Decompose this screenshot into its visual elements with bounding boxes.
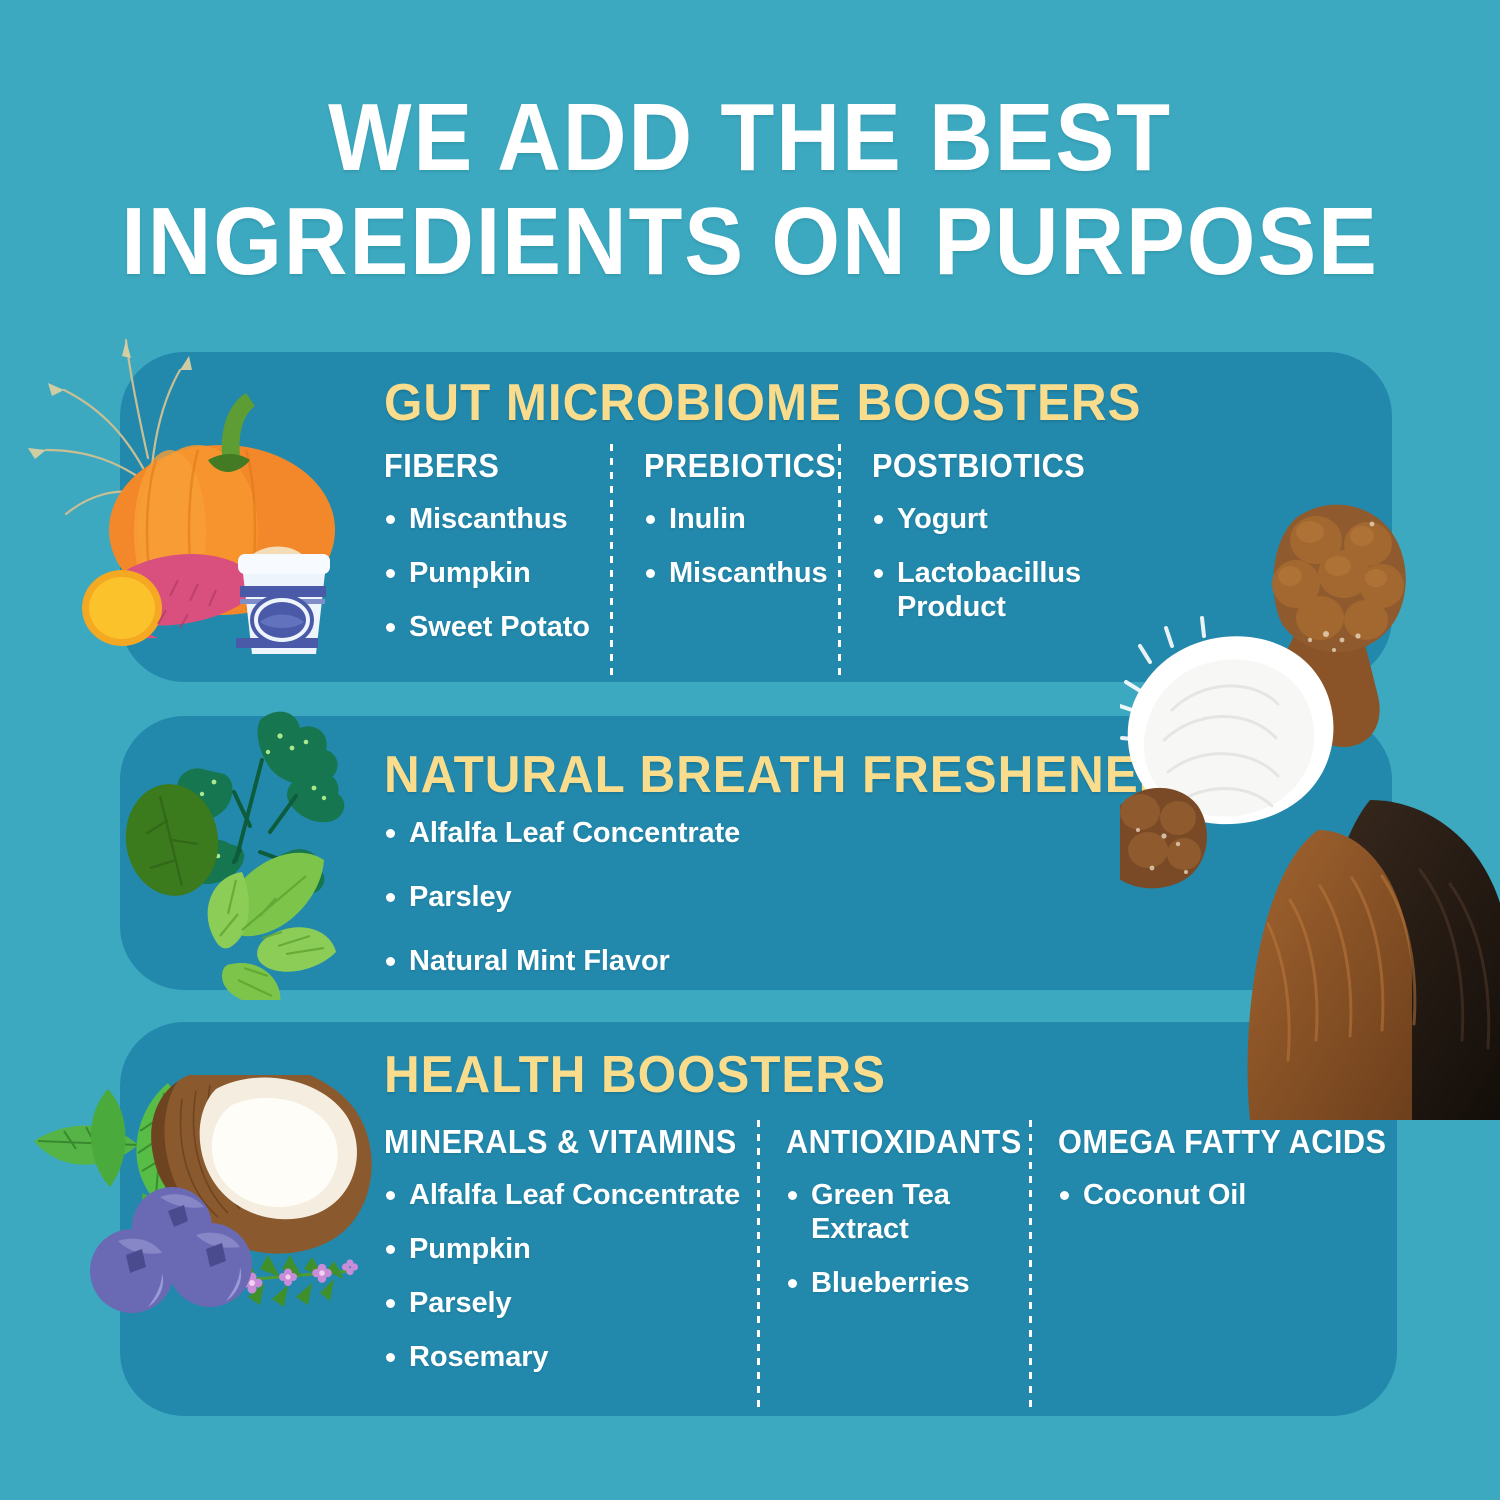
list-item: Lactobacillus Product xyxy=(872,556,1138,624)
column-head-prebiotics: PREBIOTICS xyxy=(644,448,824,484)
column-antioxidants: ANTIOXIDANTS Green Tea Extract Blueberri… xyxy=(756,1124,1028,1394)
list-item: Parsely xyxy=(384,1286,756,1320)
list-item: Miscanthus xyxy=(384,502,610,536)
list-fibers: Miscanthus Pumpkin Sweet Potato xyxy=(384,502,610,644)
list-item: Coconut Oil xyxy=(1058,1178,1368,1212)
column-head-omega-fatty-acids: OMEGA FATTY ACIDS xyxy=(1058,1124,1346,1160)
section-title-breath: NATURAL BREATH FRESHENERS xyxy=(384,748,1209,802)
list-item: Inulin xyxy=(644,502,838,536)
title-line-2: INGREDIENTS ON PURPOSE xyxy=(60,190,1440,294)
column-fibers: FIBERS Miscanthus Pumpkin Sweet Potato xyxy=(384,448,610,664)
divider-dotted xyxy=(838,444,841,676)
title-line-1: WE ADD THE BEST xyxy=(60,86,1440,190)
page-title: WE ADD THE BEST INGREDIENTS ON PURPOSE xyxy=(0,86,1500,294)
divider-dotted xyxy=(1029,1120,1032,1408)
list-item: Miscanthus xyxy=(644,556,838,590)
divider-dotted xyxy=(757,1120,760,1408)
list-item: Pumpkin xyxy=(384,556,610,590)
column-head-antioxidants: ANTIOXIDANTS xyxy=(786,1124,1011,1160)
list-item: Blueberries xyxy=(786,1266,1028,1300)
columns-health: MINERALS & VITAMINS Alfalfa Leaf Concent… xyxy=(384,1124,1368,1394)
column-minerals-vitamins: MINERALS & VITAMINS Alfalfa Leaf Concent… xyxy=(384,1124,756,1394)
list-omega-fatty-acids: Coconut Oil xyxy=(1058,1178,1368,1212)
list-minerals-vitamins: Alfalfa Leaf Concentrate Pumpkin Parsely… xyxy=(384,1178,756,1374)
list-item: Yogurt xyxy=(872,502,1138,536)
list-item: Green Tea Extract xyxy=(786,1178,1028,1246)
list-postbiotics: Yogurt Lactobacillus Product xyxy=(872,502,1138,624)
list-item: Natural Mint Flavor xyxy=(384,944,1004,978)
list-item: Alfalfa Leaf Concentrate xyxy=(384,1178,756,1212)
columns-gut: FIBERS Miscanthus Pumpkin Sweet Potato P… xyxy=(384,448,1138,664)
section-title-gut: GUT MICROBIOME BOOSTERS xyxy=(384,376,1141,430)
list-item: Rosemary xyxy=(384,1340,756,1374)
section-title-health: HEALTH BOOSTERS xyxy=(384,1048,886,1102)
list-item: Pumpkin xyxy=(384,1232,756,1266)
list-item: Parsley xyxy=(384,880,1004,914)
list-item: Alfalfa Leaf Concentrate xyxy=(384,816,1004,850)
column-prebiotics: PREBIOTICS Inulin Miscanthus xyxy=(610,448,838,664)
list-antioxidants: Green Tea Extract Blueberries xyxy=(786,1178,1028,1300)
divider-dotted xyxy=(610,444,613,676)
list-item: Sweet Potato xyxy=(384,610,610,644)
column-postbiotics: POSTBIOTICS Yogurt Lactobacillus Product xyxy=(838,448,1138,664)
column-omega-fatty-acids: OMEGA FATTY ACIDS Coconut Oil xyxy=(1028,1124,1368,1394)
column-head-postbiotics: POSTBIOTICS xyxy=(872,448,1119,484)
list-prebiotics: Inulin Miscanthus xyxy=(644,502,838,590)
column-head-fibers: FIBERS xyxy=(384,448,594,484)
column-head-minerals-vitamins: MINERALS & VITAMINS xyxy=(384,1124,730,1160)
list-breath-fresheners: Alfalfa Leaf Concentrate Parsley Natural… xyxy=(384,816,1004,1008)
